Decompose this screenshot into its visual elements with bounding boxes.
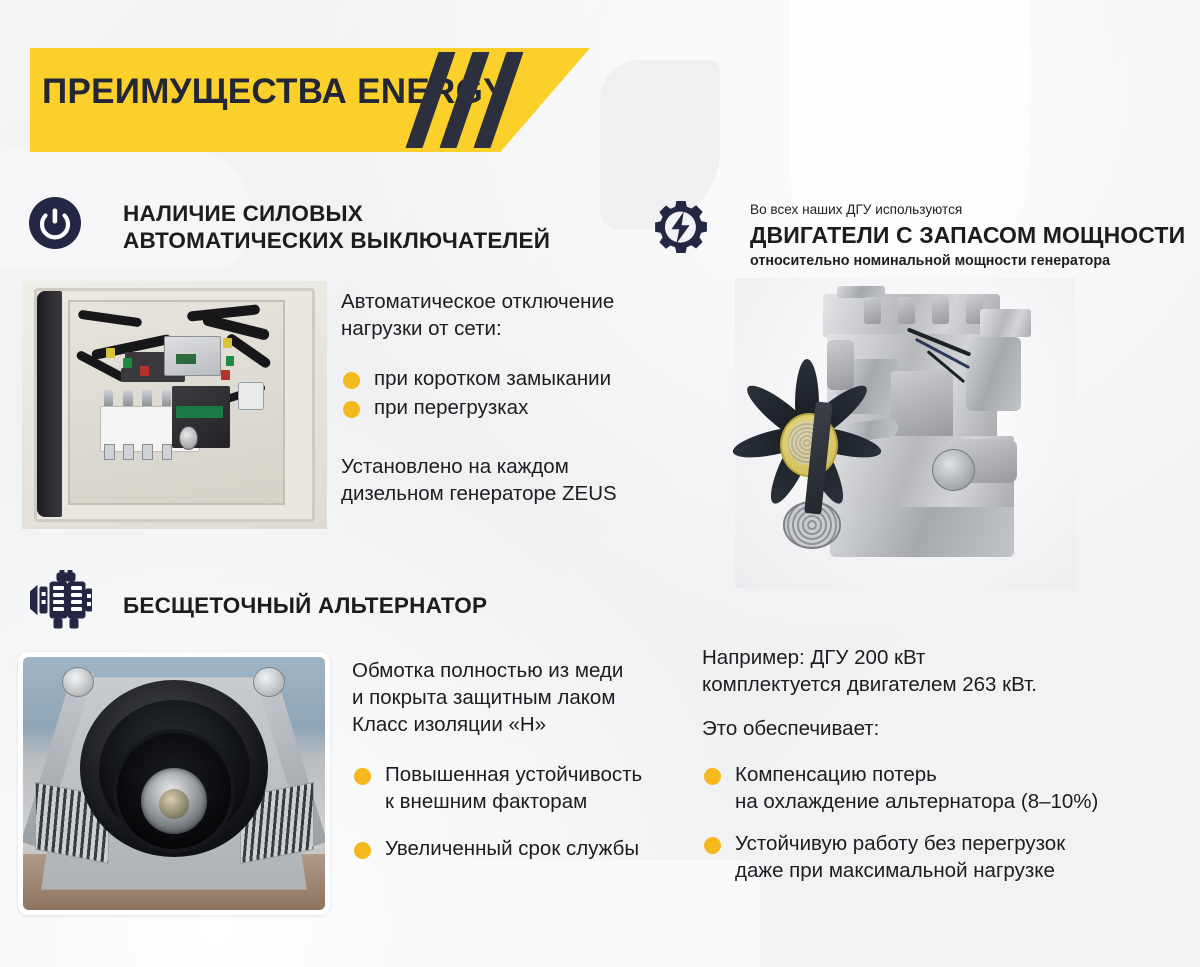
gear-bolt-icon [650, 200, 712, 262]
list-item: при коротком замыкании [341, 366, 681, 393]
list-item-line1: Компенсацию потерь [735, 763, 937, 786]
list-item: Повышенная устойчивость к внешним фактор… [352, 762, 697, 815]
engine-bullet-list: Компенсацию потерь на охлаждение альтерн… [702, 762, 1182, 897]
diesel-engine-photo [735, 278, 1075, 588]
example-line-2: комплектуется двигателем 263 кВт. [702, 671, 1172, 698]
list-item: Компенсацию потерь на охлаждение альтерн… [702, 762, 1182, 815]
banner-stripes-decoration [414, 48, 544, 152]
header-banner: ПРЕИМУЩЕСТВА ENERGY [30, 48, 590, 152]
engine-heading-block: Во всех наших ДГУ используются ДВИГАТЕЛИ… [750, 202, 1190, 270]
alternator-intro-text: Обмотка полностью из меди и покрыта защи… [352, 657, 697, 738]
breakers-footer-text: Установлено на каждом дизельном генерато… [341, 453, 691, 507]
brushless-alternator-photo [18, 652, 330, 915]
alternator-bullet-list: Повышенная устойчивость к внешним фактор… [352, 762, 697, 875]
list-item-line1: Увеличенный срок службы [385, 837, 639, 860]
example-line-1: Например: ДГУ 200 кВт [702, 644, 1172, 671]
breakers-title-line2: АВТОМАТИЧЕСКИХ ВЫКЛЮЧАТЕЛЕЙ [123, 227, 603, 254]
alternator-icon [30, 570, 92, 630]
engine-provides-label: Это обеспечивает: [702, 715, 1172, 742]
list-item: при перегрузках [341, 395, 681, 422]
breakers-bullet-list: при коротком замыкании при перегрузках [341, 366, 681, 423]
engine-caption-top: Во всех наших ДГУ используются [750, 202, 1190, 218]
list-item-line2: на охлаждение альтернатора (8–10%) [735, 790, 1098, 813]
intro-line-3: Класс изоляции «Н» [352, 711, 697, 738]
footer-line-2: дизельном генераторе ZEUS [341, 480, 691, 507]
breakers-intro-text: Автоматическое отключение нагрузки от се… [341, 288, 681, 342]
intro-line-2: нагрузки от сети: [341, 315, 681, 342]
list-item-line1: Повышенная устойчивость [385, 763, 642, 786]
intro-line-2: и покрыта защитным лаком [352, 684, 697, 711]
section-title-breakers: НАЛИЧИЕ СИЛОВЫХ АВТОМАТИЧЕСКИХ ВЫКЛЮЧАТЕ… [123, 200, 603, 255]
footer-line-1: Установлено на каждом [341, 453, 691, 480]
list-item-line2: к внешним факторам [385, 790, 587, 813]
list-item-line2: даже при максимальной нагрузке [735, 859, 1055, 882]
intro-line-1: Обмотка полностью из меди [352, 657, 697, 684]
list-item-line1: Устойчивую работу без перегрузок [735, 832, 1065, 855]
engine-example-text: Например: ДГУ 200 кВт комплектуется двиг… [702, 644, 1172, 698]
list-item: Устойчивую работу без перегрузок даже пр… [702, 831, 1182, 884]
infographic-canvas: ПРЕИМУЩЕСТВА ENERGY НАЛИЧИЕ СИЛОВЫХ АВТО… [0, 0, 1200, 967]
engine-caption-bottom: относительно номинальной мощности генера… [750, 253, 1190, 270]
engine-headline: ДВИГАТЕЛИ С ЗАПАСОМ МОЩНОСТИ [750, 222, 1190, 248]
power-icon [28, 196, 82, 250]
intro-line-1: Автоматическое отключение [341, 288, 681, 315]
electrical-cabinet-photo [22, 281, 327, 529]
breakers-title-line1: НАЛИЧИЕ СИЛОВЫХ [123, 200, 603, 227]
list-item: Увеличенный срок службы [352, 836, 697, 863]
section-title-alternator: БЕСЩЕТОЧНЫЙ АЛЬТЕРНАТОР [123, 592, 553, 619]
